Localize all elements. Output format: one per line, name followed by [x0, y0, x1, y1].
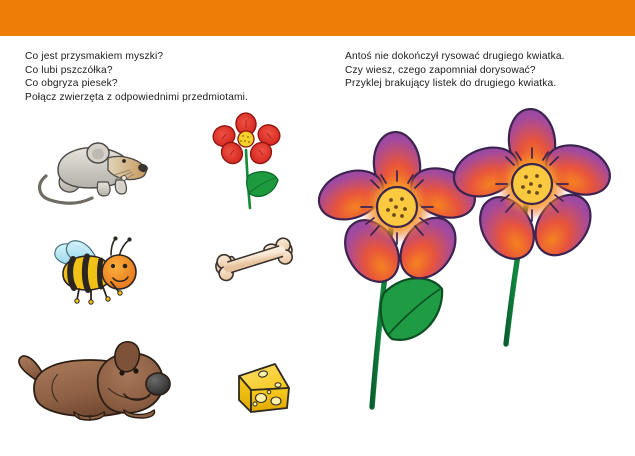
orange-header-bar	[0, 0, 635, 36]
instruction-line: Co lubi pszczółka?	[25, 64, 248, 78]
cheese-illustration	[231, 360, 295, 420]
bone-illustration	[216, 243, 298, 285]
red-flower-illustration	[212, 114, 292, 214]
instruction-line: Czy wiesz, czego zapomniał dorysować?	[345, 64, 565, 78]
instruction-line: Co jest przysmakiem myszki?	[25, 50, 248, 64]
instruction-line: Przyklej brakujący listek do drugiego kw…	[345, 77, 565, 91]
mouse-illustration	[36, 136, 154, 216]
instruction-line: Połącz zwierzęta z odpowiednimi przedmio…	[25, 91, 248, 105]
instruction-line: Antoś nie dokończył rysować drugiego kwi…	[345, 50, 565, 64]
bee-illustration	[49, 234, 141, 306]
instruction-line: Co obgryza piesek?	[25, 77, 248, 91]
right-instructions: Antoś nie dokończył rysować drugiego kwi…	[345, 50, 565, 91]
left-instructions: Co jest przysmakiem myszki? Co lubi pszc…	[25, 50, 248, 104]
incomplete-flower-illustration	[462, 118, 617, 368]
dog-illustration	[12, 336, 177, 436]
worksheet-page: Co jest przysmakiem myszki? Co lubi pszc…	[0, 0, 635, 456]
